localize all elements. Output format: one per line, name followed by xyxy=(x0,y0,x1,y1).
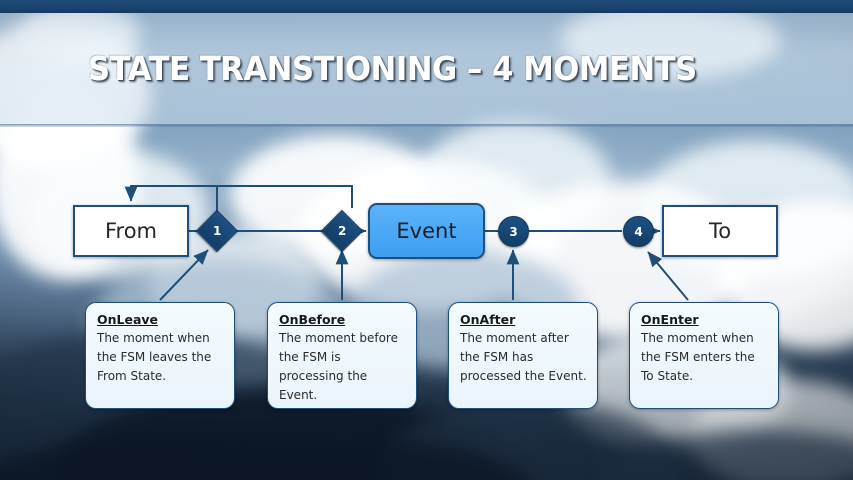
moment-marker-3-label: 3 xyxy=(509,225,517,239)
slide-canvas: STATE TRANSTIONING – 4 MOMENTS xyxy=(0,0,853,480)
top-accent-strip xyxy=(0,0,853,13)
callout-onafter-title: OnAfter xyxy=(460,312,587,328)
moment-marker-3[interactable]: 3 xyxy=(498,216,529,247)
state-node-to[interactable]: To xyxy=(662,205,778,257)
state-node-event-label: Event xyxy=(396,219,456,243)
callout-onafter[interactable]: OnAfter The moment after the FSM has pro… xyxy=(448,302,598,409)
callout-onafter-body: The moment after the FSM has processed t… xyxy=(460,329,587,386)
state-node-from-label: From xyxy=(105,219,157,243)
moment-marker-2-label: 2 xyxy=(338,224,346,238)
callout-onleave[interactable]: OnLeave The moment when the FSM leaves t… xyxy=(85,302,235,409)
moment-marker-1-label: 1 xyxy=(213,224,221,238)
page-title: STATE TRANSTIONING – 4 MOMENTS xyxy=(88,49,697,88)
moment-marker-4[interactable]: 4 xyxy=(623,216,654,247)
callout-onenter-title: OnEnter xyxy=(641,312,768,328)
callout-onbefore[interactable]: OnBefore The moment before the FSM is pr… xyxy=(267,302,417,409)
state-node-to-label: To xyxy=(709,219,731,243)
state-node-from[interactable]: From xyxy=(73,205,189,257)
callout-onenter-body: The moment when the FSM enters the To St… xyxy=(641,329,768,386)
state-node-event[interactable]: Event xyxy=(368,203,485,259)
callout-onleave-title: OnLeave xyxy=(97,312,224,328)
title-band-edge xyxy=(0,124,853,127)
callout-onleave-body: The moment when the FSM leaves the From … xyxy=(97,329,224,386)
callout-onbefore-title: OnBefore xyxy=(279,312,406,328)
callout-onbefore-body: The moment before the FSM is processing … xyxy=(279,329,406,405)
moment-marker-4-label: 4 xyxy=(634,225,642,239)
callout-onenter[interactable]: OnEnter The moment when the FSM enters t… xyxy=(629,302,779,409)
